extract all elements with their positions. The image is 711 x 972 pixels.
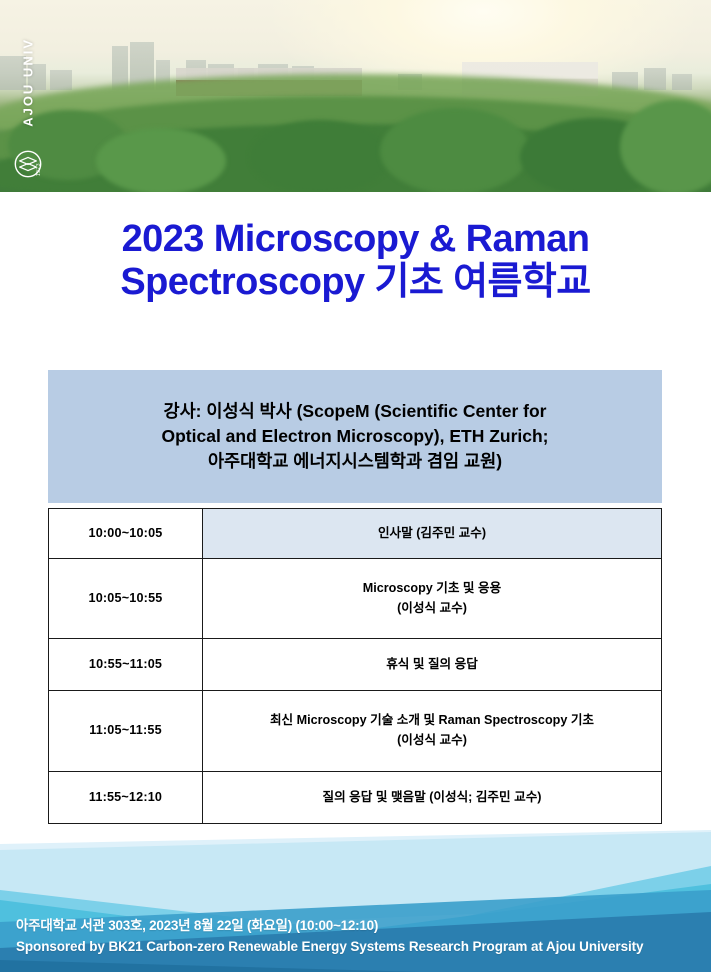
- schedule-time: 11:05~11:55: [49, 691, 203, 772]
- title-line-1: 2023 Microscopy & Raman: [122, 218, 590, 260]
- ajou-emblem-icon: [14, 150, 42, 178]
- table-row: 10:00~10:05 인사말 (김주민 교수): [49, 509, 662, 559]
- page-title: 2023 Microscopy & Raman Spectroscopy 기초 …: [28, 218, 683, 303]
- campus-photo: [0, 0, 711, 192]
- footer-venue-datetime: 아주대학교 서관 303호, 2023년 8월 22일 (화요일) (10:00…: [16, 916, 643, 937]
- schedule-topic: Microscopy 기초 및 응용 (이성식 교수): [203, 559, 662, 639]
- schedule-topic: 휴식 및 질의 응답: [203, 639, 662, 691]
- logo-wordmark: AJOU UNIV: [21, 38, 36, 127]
- table-row: 11:55~12:10 질의 응답 및 맺음말 (이성식; 김주민 교수): [49, 772, 662, 824]
- table-row: 10:55~11:05 휴식 및 질의 응답: [49, 639, 662, 691]
- schedule-topic: 최신 Microscopy 기술 소개 및 Raman Spectroscopy…: [203, 691, 662, 772]
- table-row: 11:05~11:55 최신 Microscopy 기술 소개 및 Raman …: [49, 691, 662, 772]
- schedule-time: 10:55~11:05: [49, 639, 203, 691]
- schedule-time: 10:00~10:05: [49, 509, 203, 559]
- poster-title-block: 2023 Microscopy & Raman Spectroscopy 기초 …: [28, 218, 683, 303]
- schedule-time: 10:05~10:55: [49, 559, 203, 639]
- instructor-details: 강사: 이성식 박사 (ScopeM (Scientific Center fo…: [162, 399, 549, 474]
- schedule-table-body: 10:00~10:05 인사말 (김주민 교수) 10:05~10:55 Mic…: [49, 509, 662, 824]
- header-photo-banner: AJOU UNIV 1973: [0, 0, 711, 192]
- schedule-table: 10:00~10:05 인사말 (김주민 교수) 10:05~10:55 Mic…: [48, 508, 662, 824]
- ajou-university-logo: AJOU UNIV 1973: [8, 38, 48, 180]
- footer-sponsor: Sponsored by BK21 Carbon-zero Renewable …: [16, 937, 643, 958]
- schedule-topic: 질의 응답 및 맺음말 (이성식; 김주민 교수): [203, 772, 662, 824]
- table-row: 10:05~10:55 Microscopy 기초 및 응용 (이성식 교수): [49, 559, 662, 639]
- instructor-info-box: 강사: 이성식 박사 (ScopeM (Scientific Center fo…: [48, 370, 662, 503]
- schedule-time: 11:55~12:10: [49, 772, 203, 824]
- title-line-2: Spectroscopy 기초 여름학교: [120, 261, 590, 303]
- footer-info: 아주대학교 서관 303호, 2023년 8월 22일 (화요일) (10:00…: [16, 916, 643, 958]
- footer-banner: 아주대학교 서관 303호, 2023년 8월 22일 (화요일) (10:00…: [0, 830, 711, 972]
- schedule-topic: 인사말 (김주민 교수): [203, 509, 662, 559]
